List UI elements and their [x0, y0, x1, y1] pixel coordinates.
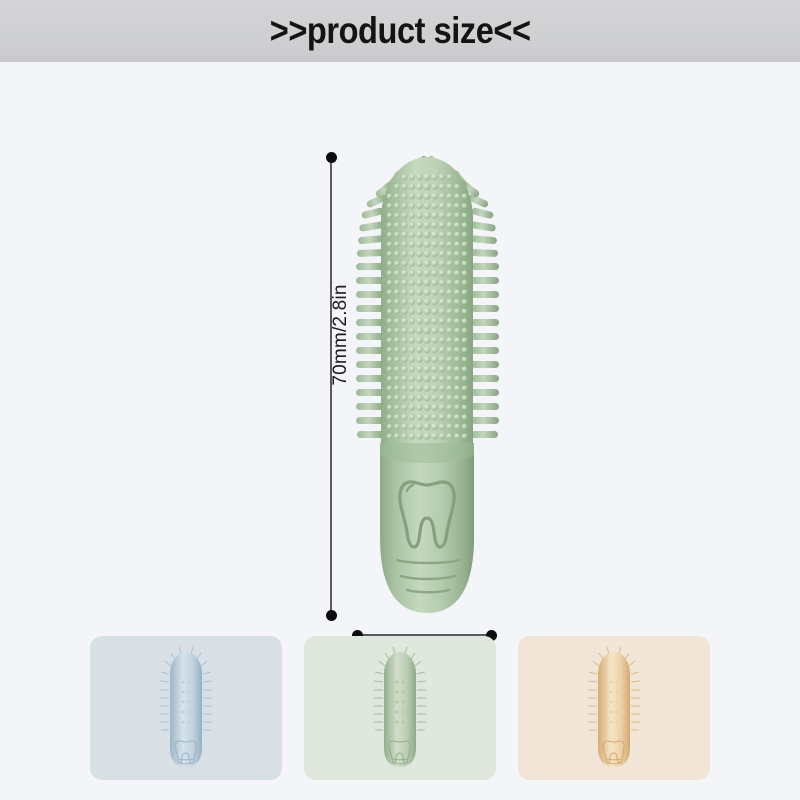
handle-body — [380, 443, 474, 613]
beige-variant-thumb — [585, 644, 643, 772]
product-main-image — [355, 147, 500, 617]
page-title: >>product size<< — [270, 10, 531, 52]
header-banner: >>product size<< — [0, 0, 800, 62]
color-variant-row — [0, 636, 800, 800]
product-size-stage: 70mm/2.8in 22mm/0.9in Weight: 7g — [0, 62, 800, 630]
height-dimension-label: 70mm/2.8in — [330, 270, 352, 400]
variant-card-blue[interactable] — [90, 636, 282, 780]
blue-variant-thumb — [157, 644, 215, 772]
green-variant-thumb — [371, 644, 429, 772]
toothbrush-illustration — [355, 147, 500, 617]
variant-card-green[interactable] — [304, 636, 496, 780]
height-dimension-endpoint-bottom — [326, 610, 337, 621]
handle-top-rim — [380, 443, 474, 463]
height-dimension-endpoint-top — [326, 152, 337, 163]
variant-card-beige[interactable] — [518, 636, 710, 780]
